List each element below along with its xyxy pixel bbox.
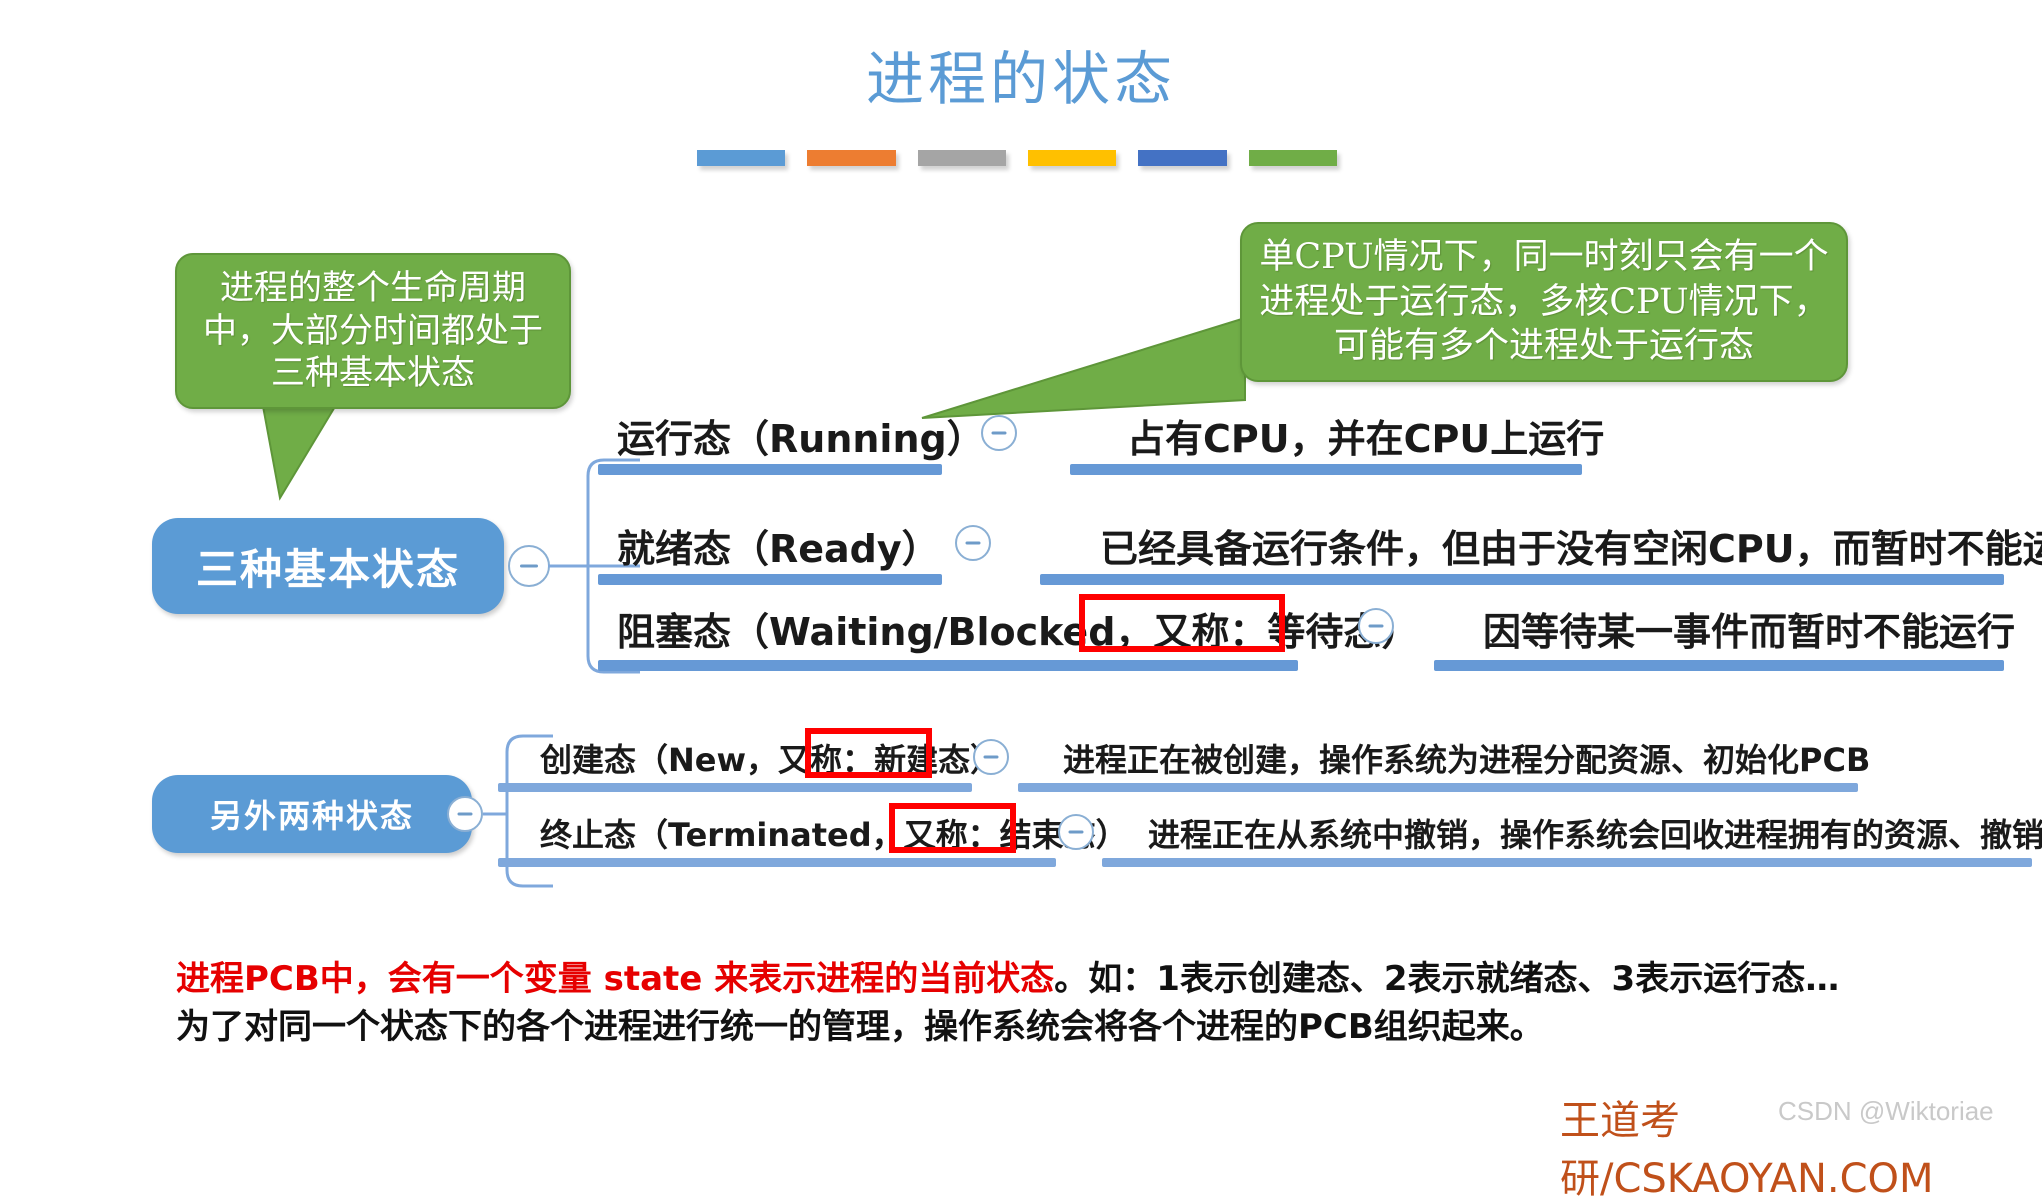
topic-blocked-prefix: 阻塞态（Waiting/Blocked， (617, 610, 1153, 654)
accent-bar-orange (807, 150, 895, 166)
topic-ready[interactable]: 就绪态（Ready） (617, 518, 940, 573)
detail-underline-running (1070, 464, 1582, 475)
callout-left: 进程的整个生命周期中，大部分时间都处于三种基本状态 (175, 253, 571, 409)
collapse-minus-icon-ready[interactable] (955, 525, 991, 561)
accent-bar-green (1249, 150, 1337, 166)
detail-underline-blocked (1434, 660, 2004, 671)
accent-bar-gray (918, 150, 1006, 166)
collapse-minus-icon-branch1[interactable] (508, 545, 550, 587)
topic-underline-blocked (598, 660, 1298, 671)
topic-blocked[interactable]: 阻塞态（Waiting/Blocked，又称：等待态） (617, 601, 1419, 656)
topic-underline-ready (598, 574, 942, 585)
watermark: CSDN @Wiktoriae (1778, 1096, 1994, 1127)
accent-bar-strip (697, 150, 1337, 166)
topic-running[interactable]: 运行态（Running） (617, 408, 985, 463)
collapse-minus-icon-branch2[interactable] (447, 796, 483, 832)
topic-underline-new (498, 783, 972, 792)
collapse-minus-icon-running[interactable] (981, 415, 1017, 451)
mindmap-node-three-basic-states[interactable]: 三种基本状态 (152, 518, 504, 614)
highlight-box-new-alias (805, 728, 932, 778)
detail-underline-terminated (1102, 858, 2032, 867)
detail-underline-new (1018, 783, 1858, 792)
note-black-text: 。如：1表示创建态、2表示就绪态、3表示运行态… (1054, 959, 1839, 999)
bottom-note: 进程PCB中，会有一个变量 state 来表示进程的当前状态。如：1表示创建态、… (176, 955, 2006, 1052)
accent-bar-blue (697, 150, 785, 166)
detail-underline-ready (1040, 574, 2004, 585)
mindmap-node-two-more-states[interactable]: 另外两种状态 (152, 775, 472, 853)
detail-new: 进程正在被创建，操作系统为进程分配资源、初始化PCB (1063, 735, 1870, 781)
detail-terminated: 进程正在从系统中撤销，操作系统会回收进程拥有的资源、撤销PCB (1148, 810, 2042, 856)
topic-terminated[interactable]: 终止态（Terminated，又称：结束态） (540, 810, 1128, 856)
highlight-box-terminated-alias (889, 803, 1016, 853)
highlight-box-blocked-alias (1079, 594, 1285, 652)
accent-bar-yellow (1028, 150, 1116, 166)
detail-running: 占有CPU，并在CPU上运行 (1127, 408, 1604, 463)
detail-blocked: 因等待某一事件而暂时不能运行 (1483, 601, 2015, 656)
collapse-minus-icon-terminated[interactable] (1058, 814, 1094, 850)
slide-canvas: 进程的状态 进程的整个生命周期中，大部分时间都处于三种基本状态 单CPU情况下，… (0, 0, 2042, 1142)
topic-underline-running (598, 464, 942, 475)
accent-bar-darkblue (1138, 150, 1226, 166)
note-line2: 为了对同一个状态下的各个进程进行统一的管理，操作系统会将各个进程的PCB组织起来… (176, 1007, 1544, 1047)
topic-new[interactable]: 创建态（New，又称：新建态） (540, 735, 1002, 781)
note-red-text: 进程PCB中，会有一个变量 state 来表示进程的当前状态 (176, 959, 1054, 999)
collapse-minus-icon-new[interactable] (973, 739, 1009, 775)
detail-ready: 已经具备运行条件，但由于没有空闲CPU，而暂时不能运行 (1100, 518, 2042, 573)
callout-right: 单CPU情况下，同一时刻只会有一个进程处于运行态，多核CPU情况下，可能有多个进… (1240, 222, 1848, 382)
collapse-minus-icon-blocked[interactable] (1358, 608, 1394, 644)
topic-underline-terminated (498, 858, 1056, 867)
page-title: 进程的状态 (0, 32, 2042, 116)
